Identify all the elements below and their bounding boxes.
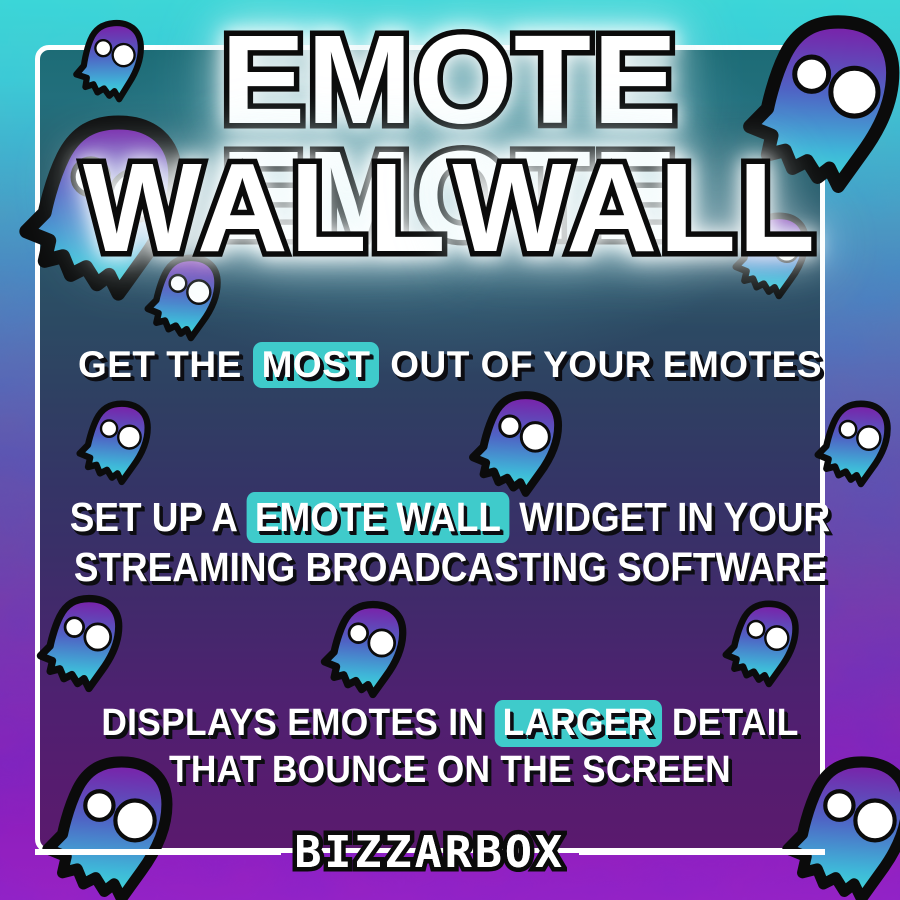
emote-wall-promo-poster: EMOTE EMOTE WALL WALL GET THE MOST OUT O… — [0, 0, 900, 900]
brand-wordmark-fill: BIZZARBOX — [278, 827, 581, 878]
brand-wordmark: BIZZARBOX BIZZARBOX — [278, 827, 581, 878]
panel-frame — [35, 45, 825, 853]
brand-footer: BIZZARBOX BIZZARBOX — [35, 823, 825, 881]
brand-rule-right — [579, 849, 825, 855]
brand-rule-left — [35, 849, 281, 855]
